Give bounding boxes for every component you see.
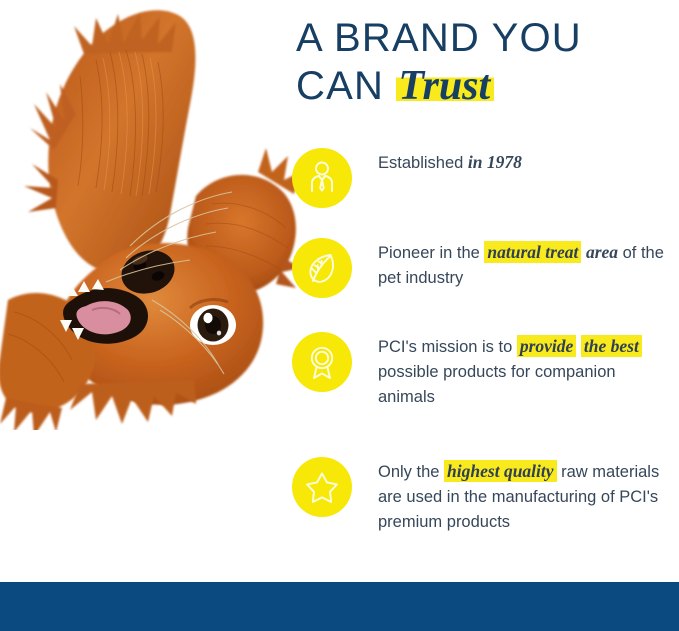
footer-bar <box>0 582 679 631</box>
list-item: Pioneer in the natural treat area of the… <box>292 238 668 298</box>
bullet-4-highlight: highest quality <box>444 460 556 482</box>
star-icon <box>292 457 352 517</box>
person-tie-icon <box>292 148 352 208</box>
list-item: PCI's mission is to provide the best pos… <box>292 332 668 410</box>
bullet-1-italic: in 1978 <box>468 152 522 172</box>
bullet-4-plain-a: Only the <box>378 463 444 481</box>
list-item-text: PCI's mission is to provide the best pos… <box>378 332 668 410</box>
bullet-3-highlight-b: the best <box>581 335 642 357</box>
award-ribbon-icon <box>292 332 352 392</box>
dog-illustration <box>0 0 300 460</box>
bullet-2-plain-a: Pioneer in the <box>378 244 484 262</box>
bullet-2-highlight: natural treat <box>484 241 581 263</box>
leaf-icon <box>292 238 352 298</box>
bullet-1-plain: Established <box>378 154 468 172</box>
page-title: A BRAND YOU CAN Trust <box>296 14 666 110</box>
headline-highlight-trust: Trust <box>396 63 494 109</box>
list-item: Established in 1978 <box>292 148 522 208</box>
bullet-2-italic: area <box>586 242 618 262</box>
bullet-3-plain-b: possible products for companion animals <box>378 363 616 406</box>
list-item: Only the highest quality raw materials a… <box>292 457 668 535</box>
bullet-3-plain-a: PCI's mission is to <box>378 338 517 356</box>
headline-line-2: CAN Trust <box>296 62 666 110</box>
list-item-text: Pioneer in the natural treat area of the… <box>378 238 668 291</box>
list-item-text: Only the highest quality raw materials a… <box>378 457 668 535</box>
bullet-3-highlight-a: provide <box>517 335 576 357</box>
infographic-canvas: A BRAND YOU CAN Trust Established in 197… <box>0 0 679 631</box>
dog-photo <box>0 0 300 460</box>
list-item-text: Established in 1978 <box>378 148 522 176</box>
headline-line-2-plain: CAN <box>296 64 396 108</box>
headline-line-1: A BRAND YOU <box>296 14 666 62</box>
